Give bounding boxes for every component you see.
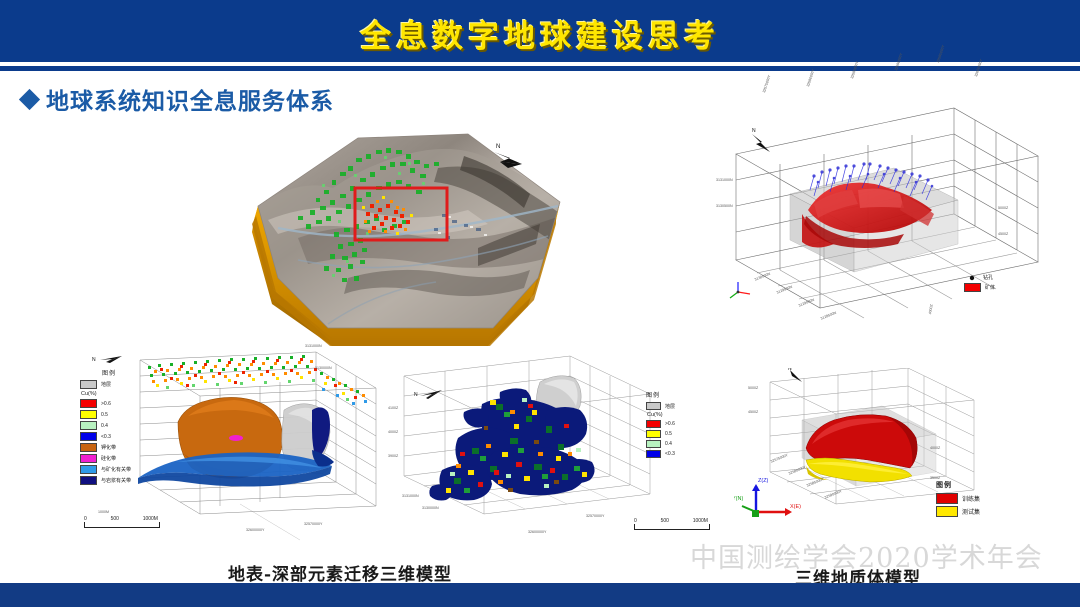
test-set-swatch-icon <box>936 506 958 517</box>
svg-text:X(E): X(E) <box>790 504 801 510</box>
zone-swatch-icon-3 <box>80 476 97 485</box>
legend-item-cu-1: 0.5 <box>646 430 698 438</box>
legend-item-zone-0: 钾化带 <box>80 443 138 452</box>
cu-swatch-icon-2 <box>646 440 661 448</box>
cu-swatch-icon-1 <box>646 430 661 438</box>
scale-label-0: 0 <box>84 516 87 522</box>
figure-terrain-block: N <box>238 128 578 358</box>
legend-item-cu-0: >0.6 <box>646 420 698 428</box>
silicification-zone <box>229 435 243 441</box>
figure-cu-grade-model: N 图例 地层 Cu(%) >0.6 0.5 0.4 <box>398 352 688 552</box>
cu-swatch-icon-0 <box>80 399 97 408</box>
scale-label-1: 500 <box>661 518 669 524</box>
cu-swatch-icon-3 <box>80 432 97 441</box>
svg-text:Y(N): Y(N) <box>734 496 743 502</box>
svg-text:N: N <box>92 357 96 363</box>
zone-swatch-icon-1 <box>80 454 97 463</box>
legend-item-test-set: 测试集 <box>936 506 1010 517</box>
header-rule <box>0 66 1080 71</box>
svg-text:N: N <box>414 392 418 398</box>
svg-text:N: N <box>752 128 756 134</box>
strata-swatch-icon <box>646 402 661 410</box>
training-set-swatch-icon <box>936 493 958 504</box>
legend-item-strata: 地层 <box>646 402 698 410</box>
figure-geological-body-model: N Z(Z) X(E) Y(N) 图例 训练集 <box>740 368 1040 548</box>
cu-swatch-icon-3 <box>646 450 661 458</box>
legend-item-cu-3: <0.3 <box>80 432 138 441</box>
zone-swatch-icon-2 <box>80 465 97 474</box>
scale-label-1: 500 <box>111 516 119 522</box>
legend-title: 图例 <box>936 480 1010 490</box>
terrain-svg: N <box>238 128 578 358</box>
legend-item-orebody: 矿体 <box>964 283 995 292</box>
cu-grade-svg: N <box>398 352 658 547</box>
bottom-right-legend: 图例 训练集 测试集 <box>936 480 1010 519</box>
scale-bar-rule <box>634 524 710 530</box>
page-title: 全息数字地球建设思考 <box>0 0 1080 66</box>
svg-text:N: N <box>496 144 500 150</box>
scale-label-2: 1000M <box>693 518 708 524</box>
strata-swatch-icon <box>80 380 97 389</box>
legend-item-cu-2: 0.4 <box>646 440 698 448</box>
section-heading-label: 地球系统知识全息服务体系 <box>46 82 334 116</box>
diamond-bullet-icon <box>19 88 40 109</box>
legend-item-zone-1: 硅化带 <box>80 454 138 463</box>
terrain-surface <box>238 128 578 358</box>
slide-root: 全息数字地球建设思考 地球系统知识全息服务体系 <box>0 0 1080 607</box>
caption-left: 地表-深部元素迁移三维模型 <box>228 560 452 585</box>
legend-title: 图例 <box>80 368 138 377</box>
figure-orebody-block-model: N 32575000Y 32580000Y 32585000Y 32590000… <box>718 92 1054 322</box>
bottom-left-legend: 图例 地层 Cu(%) >0.6 0.5 0.4 <0.3 <box>80 368 138 487</box>
axis-triad-icon <box>730 282 750 298</box>
borehole-point-icon <box>964 275 979 281</box>
cu-swatch-icon-0 <box>646 420 661 428</box>
legend-item-zone-3: 与岩浆有关带 <box>80 476 138 485</box>
axis-triad-icon: Z(Z) X(E) Y(N) <box>734 472 804 522</box>
north-arrow-icon: N <box>92 352 128 368</box>
legend-item-zone-2: 与矿化有关带 <box>80 465 138 474</box>
legend-item-borehole: 钻孔 <box>964 274 995 281</box>
legend-item-training-set: 训练集 <box>936 493 1010 504</box>
footer-bar <box>0 583 1080 607</box>
scale-label-0: 0 <box>634 518 637 524</box>
north-arrow-icon: N <box>752 128 770 152</box>
legend-unit-label: Cu(%) <box>647 412 698 418</box>
legend-unit-label: Cu(%) <box>81 391 138 397</box>
surface-geochem-points <box>148 355 367 405</box>
section-heading: 地球系统知识全息服务体系 <box>22 82 334 116</box>
element-migration-svg <box>136 350 380 545</box>
bottom-center-legend: 图例 地层 Cu(%) >0.6 0.5 0.4 <0.3 <box>646 390 698 460</box>
cu-swatch-icon-1 <box>80 410 97 419</box>
block-model-legend: 钻孔 矿体 <box>964 274 995 294</box>
legend-item-cu-3: <0.3 <box>646 450 698 458</box>
scale-bar: 0 500 1000M <box>634 518 710 530</box>
cu-swatch-icon-2 <box>80 421 97 430</box>
legend-item-cu-1: 0.5 <box>80 410 138 419</box>
legend-title: 图例 <box>646 390 698 399</box>
zone-swatch-icon-0 <box>80 443 97 452</box>
legend-item-strata: 地层 <box>80 380 138 389</box>
orebody-swatch-icon <box>964 283 981 292</box>
legend-item-cu-2: 0.4 <box>80 421 138 430</box>
svg-text:Z(Z): Z(Z) <box>758 478 769 484</box>
figure-element-migration-model: 图例 地层 Cu(%) >0.6 0.5 0.4 <0.3 <box>80 350 380 550</box>
legend-item-cu-0: >0.6 <box>80 399 138 408</box>
